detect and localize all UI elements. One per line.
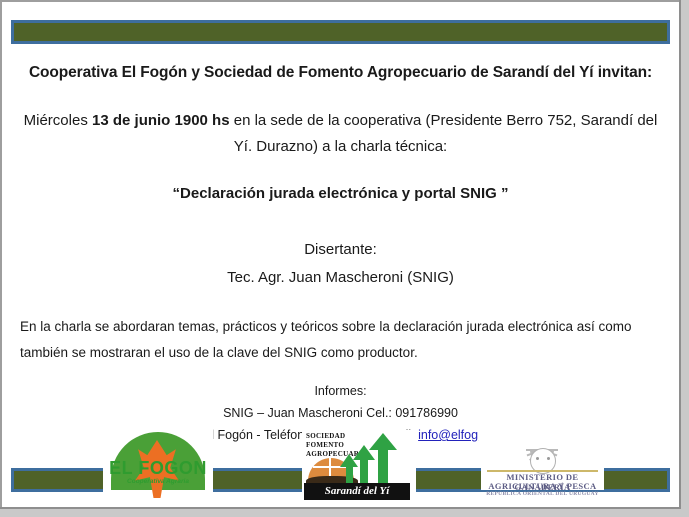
spacer xyxy=(14,366,667,380)
sfa-arrow-large-icon xyxy=(378,448,388,488)
sfa-title-line1: SOCIEDAD xyxy=(306,432,376,441)
logo-sociedad-fomento-agropecuario: SOCIEDAD FOMENTO AGROPECUARIO Sarandí de… xyxy=(302,430,416,502)
document-content: Cooperativa El Fogón y Sociedad de Fomen… xyxy=(14,48,667,460)
logo-mgap: MINISTERIO DE GANADERÍA AGRICULTURA Y PE… xyxy=(481,432,604,490)
document-sheet: Cooperativa El Fogón y Sociedad de Fomen… xyxy=(2,2,679,507)
informes-heading: Informes: xyxy=(14,380,667,402)
speaker-label: Disertante: xyxy=(14,236,667,264)
logo-el-fogon: EL FOGON Cooperativa Agraria xyxy=(103,426,213,504)
mgap-sun-of-may-icon xyxy=(511,433,573,467)
talk-title: “Declaración jurada electrónica y portal… xyxy=(14,182,667,206)
spacer xyxy=(14,86,667,108)
spacer xyxy=(14,160,667,182)
sfa-arrow-large-head-icon xyxy=(369,433,397,450)
el-fogon-wordmark: EL FOGON xyxy=(103,458,213,479)
spacer xyxy=(14,292,667,314)
description-paragraph: En la charla se abordaran temas, práctic… xyxy=(20,314,661,366)
mgap-title-line2: AGRICULTURA Y PESCA xyxy=(481,481,604,491)
invitation-date: 13 de junio 1900 hs xyxy=(92,112,230,129)
el-fogon-subtitle: Cooperativa Agraria xyxy=(103,478,213,485)
informes-snig-contact: SNIG – Juan Mascheroni Cel.: 091786990 xyxy=(14,402,667,424)
sfa-place-banner: Sarandí del Yí xyxy=(304,483,410,500)
speaker-name: Tec. Agr. Juan Mascheroni (SNIG) xyxy=(14,264,667,292)
page-shadow-bottom xyxy=(0,509,689,517)
invitation-prefix: Miércoles xyxy=(24,112,92,129)
page-title: Cooperativa El Fogón y Sociedad de Fomen… xyxy=(22,60,659,86)
decorative-banner-top xyxy=(11,20,670,44)
mgap-title-line3: REPÚBLICA ORIENTAL DEL URUGUAY xyxy=(481,491,604,497)
page-shadow-right xyxy=(681,0,689,517)
spacer xyxy=(14,206,667,236)
document-page: Cooperativa El Fogón y Sociedad de Fomen… xyxy=(0,0,689,517)
invitation-paragraph: Miércoles 13 de junio 1900 hs en la sede… xyxy=(16,108,665,160)
sfa-place-label: Sarandí del Yí xyxy=(304,483,410,500)
invitation-suffix: en la sede de la cooperativa (Presidente… xyxy=(230,112,658,155)
email-link[interactable]: info@elfog xyxy=(418,428,478,442)
